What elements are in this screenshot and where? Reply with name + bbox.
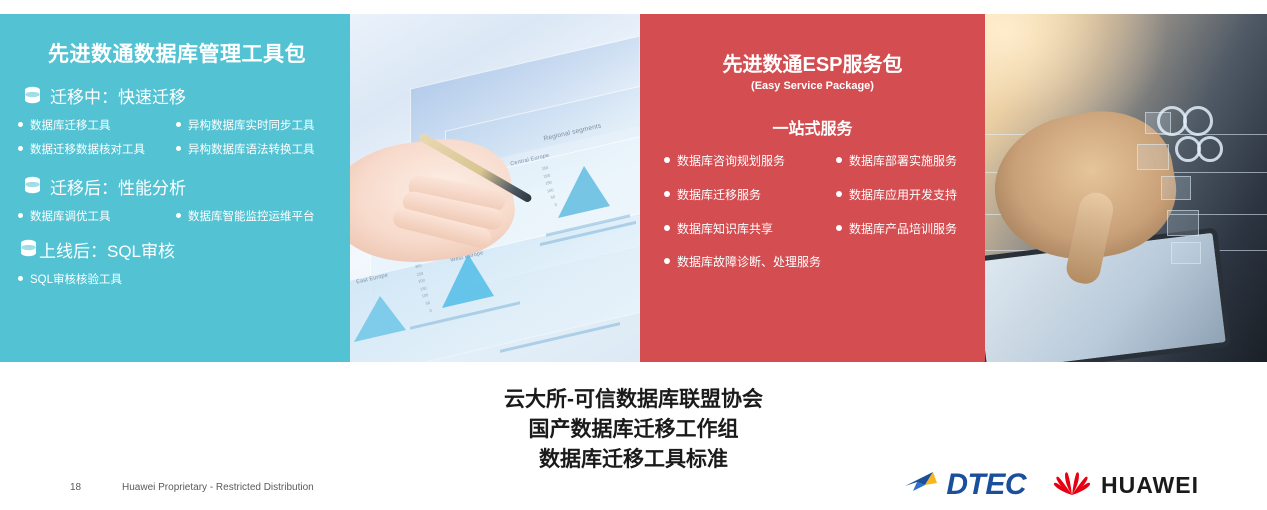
hud-ring-icon <box>1197 136 1223 162</box>
list-item: 数据库故障诊断、处理服务 <box>664 256 973 270</box>
list-item: 数据库知识库共享 <box>664 223 836 237</box>
left-panel-title: 先进数通数据库管理工具包 <box>14 42 340 67</box>
bullet-dot-icon <box>176 146 181 151</box>
list-item-label: 异构数据库语法转换工具 <box>188 144 315 157</box>
left-section-label-1: 迁移中：快速迁移 <box>50 83 186 108</box>
list-item-label: 数据库迁移工具 <box>30 120 111 133</box>
list-item: 数据库智能监控运维平台 <box>176 211 340 224</box>
bullet-dot-icon <box>664 157 670 163</box>
huawei-wordmark: HUAWEI <box>1101 472 1199 499</box>
database-icon <box>24 176 41 196</box>
left-section-label-2: 迁移后：性能分析 <box>50 174 186 199</box>
bullet-dot-icon <box>664 225 670 231</box>
list-item-label: 数据库产品培训服务 <box>849 223 957 237</box>
bullet-dot-icon <box>18 146 23 151</box>
list-item: SQL审核核验工具 <box>18 274 340 287</box>
right-panel-subtitle: (Easy Service Package) <box>652 80 973 92</box>
bullet-dot-icon <box>18 122 23 127</box>
center-photo: Regional segments Central Europe West Eu… <box>350 14 640 362</box>
left-teal-panel: 先进数通数据库管理工具包 迁移中：快速迁移 数据库迁移工具 异构数据库实时同步工… <box>0 14 350 362</box>
list-item: 数据库产品培训服务 <box>836 223 973 237</box>
list-item-label: 数据库咨询规划服务 <box>677 155 785 169</box>
slide-root: 先进数通数据库管理工具包 迁移中：快速迁移 数据库迁移工具 异构数据库实时同步工… <box>0 0 1267 510</box>
left-section-heading-2: 迁移后：性能分析 <box>24 174 340 199</box>
bullet-dot-icon <box>18 276 23 281</box>
list-item: 数据库调优工具 <box>18 211 176 224</box>
hud-chart-card <box>1161 176 1191 200</box>
list-item: 数据库应用开发支持 <box>836 189 973 203</box>
banner-strip: 先进数通数据库管理工具包 迁移中：快速迁移 数据库迁移工具 异构数据库实时同步工… <box>0 14 1267 362</box>
database-icon <box>24 86 41 106</box>
page-number: 18 <box>70 482 81 493</box>
bottom-text-line-2: 国产数据库迁移工作组 <box>0 415 1267 445</box>
database-icon <box>20 239 37 259</box>
list-item: 数据库迁移工具 <box>18 120 176 133</box>
list-item: 异构数据库实时同步工具 <box>176 120 340 133</box>
huawei-logo: HUAWEI <box>1052 469 1199 502</box>
dtec-logo: DTEC <box>903 468 1026 502</box>
hud-chart-card <box>1137 144 1169 170</box>
list-item-label: 数据库知识库共享 <box>677 223 773 237</box>
list-item-label: 数据迁移数据核对工具 <box>30 144 145 157</box>
list-item: 数据库部署实施服务 <box>836 155 973 169</box>
footer-confidentiality-note: Huawei Proprietary - Restricted Distribu… <box>122 482 314 493</box>
bullet-dot-icon <box>836 225 842 231</box>
left-bullet-group-2: 数据库调优工具 数据库智能监控运维平台 <box>18 211 340 224</box>
right-panel-section-heading: 一站式服务 <box>652 115 973 139</box>
list-item-label: 数据库迁移服务 <box>677 189 761 203</box>
huawei-flower-icon <box>1052 469 1092 502</box>
left-bullet-group-1: 数据库迁移工具 异构数据库实时同步工具 数据迁移数据核对工具 异构数据库语法转换… <box>18 120 340 157</box>
right-panel-title: 先进数通ESP服务包 <box>652 48 973 77</box>
list-item-label: SQL审核核验工具 <box>30 274 122 287</box>
list-item-label: 数据库调优工具 <box>30 211 111 224</box>
right-red-panel: 先进数通ESP服务包 (Easy Service Package) 一站式服务 … <box>640 14 985 362</box>
list-item-label: 数据库故障诊断、处理服务 <box>677 256 821 270</box>
list-item: 数据库咨询规划服务 <box>664 155 836 169</box>
left-bullet-group-3: SQL审核核验工具 <box>18 274 340 287</box>
list-item-label: 数据库智能监控运维平台 <box>188 211 315 224</box>
list-item-label: 数据库应用开发支持 <box>849 189 957 203</box>
list-item-label: 数据库部署实施服务 <box>849 155 957 169</box>
bullet-dot-icon <box>176 213 181 218</box>
bottom-text-block: 云大所-可信数据库联盟协会 国产数据库迁移工作组 数据库迁移工具标准 <box>0 385 1267 474</box>
right-photo <box>985 14 1267 362</box>
right-bullet-group: 数据库咨询规划服务 数据库部署实施服务 数据库迁移服务 数据库应用开发支持 数据… <box>664 155 973 270</box>
left-section-heading-1: 迁移中：快速迁移 <box>24 83 340 108</box>
hud-ring-icon <box>1183 106 1213 136</box>
bullet-dot-icon <box>176 122 181 127</box>
list-item: 数据库迁移服务 <box>664 189 836 203</box>
footer-logos: DTEC HUAWEI <box>903 468 1199 502</box>
dtec-mark-icon <box>903 469 945 502</box>
hud-chart-card <box>1171 242 1201 264</box>
dtec-wordmark: DTEC <box>946 468 1026 502</box>
bullet-dot-icon <box>664 258 670 264</box>
left-section-label-3: 上线后：SQL审核 <box>39 237 175 262</box>
left-section-heading-3: 上线后：SQL审核 <box>20 237 340 262</box>
bottom-text-line-1: 云大所-可信数据库联盟协会 <box>0 385 1267 415</box>
bullet-dot-icon <box>664 191 670 197</box>
list-item: 数据迁移数据核对工具 <box>18 144 176 157</box>
list-item-label: 异构数据库实时同步工具 <box>188 120 315 133</box>
list-item: 异构数据库语法转换工具 <box>176 144 340 157</box>
bullet-dot-icon <box>18 213 23 218</box>
hud-chart-card <box>1167 210 1199 236</box>
bullet-dot-icon <box>836 157 842 163</box>
bullet-dot-icon <box>836 191 842 197</box>
